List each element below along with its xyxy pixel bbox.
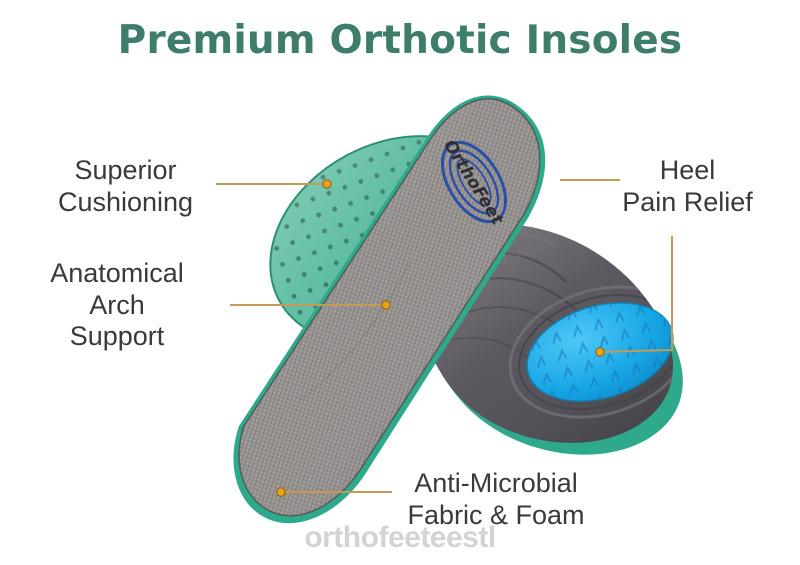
callout-anatomical-arch-support: Anatomical Arch Support [8, 258, 226, 353]
callout-line-3: Support [8, 321, 226, 353]
callout-line-1: Anti-Microbial [365, 468, 627, 500]
callout-line-1: Heel [585, 155, 790, 187]
callout-heel-pain-relief: Heel Pain Relief [585, 155, 790, 218]
callout-line-1: Anatomical [8, 258, 226, 290]
callout-line-1: Superior [18, 155, 233, 187]
callout-line-2: Cushioning [18, 187, 233, 219]
callout-line-2: Pain Relief [585, 187, 790, 219]
callout-line-2: Arch [8, 290, 226, 322]
page-title: Premium Orthotic Insoles [0, 18, 800, 63]
callout-superior-cushioning: Superior Cushioning [18, 155, 233, 218]
watermark: orthofeeteestl [0, 521, 800, 555]
infographic-canvas: OrthoFeet [0, 0, 800, 565]
